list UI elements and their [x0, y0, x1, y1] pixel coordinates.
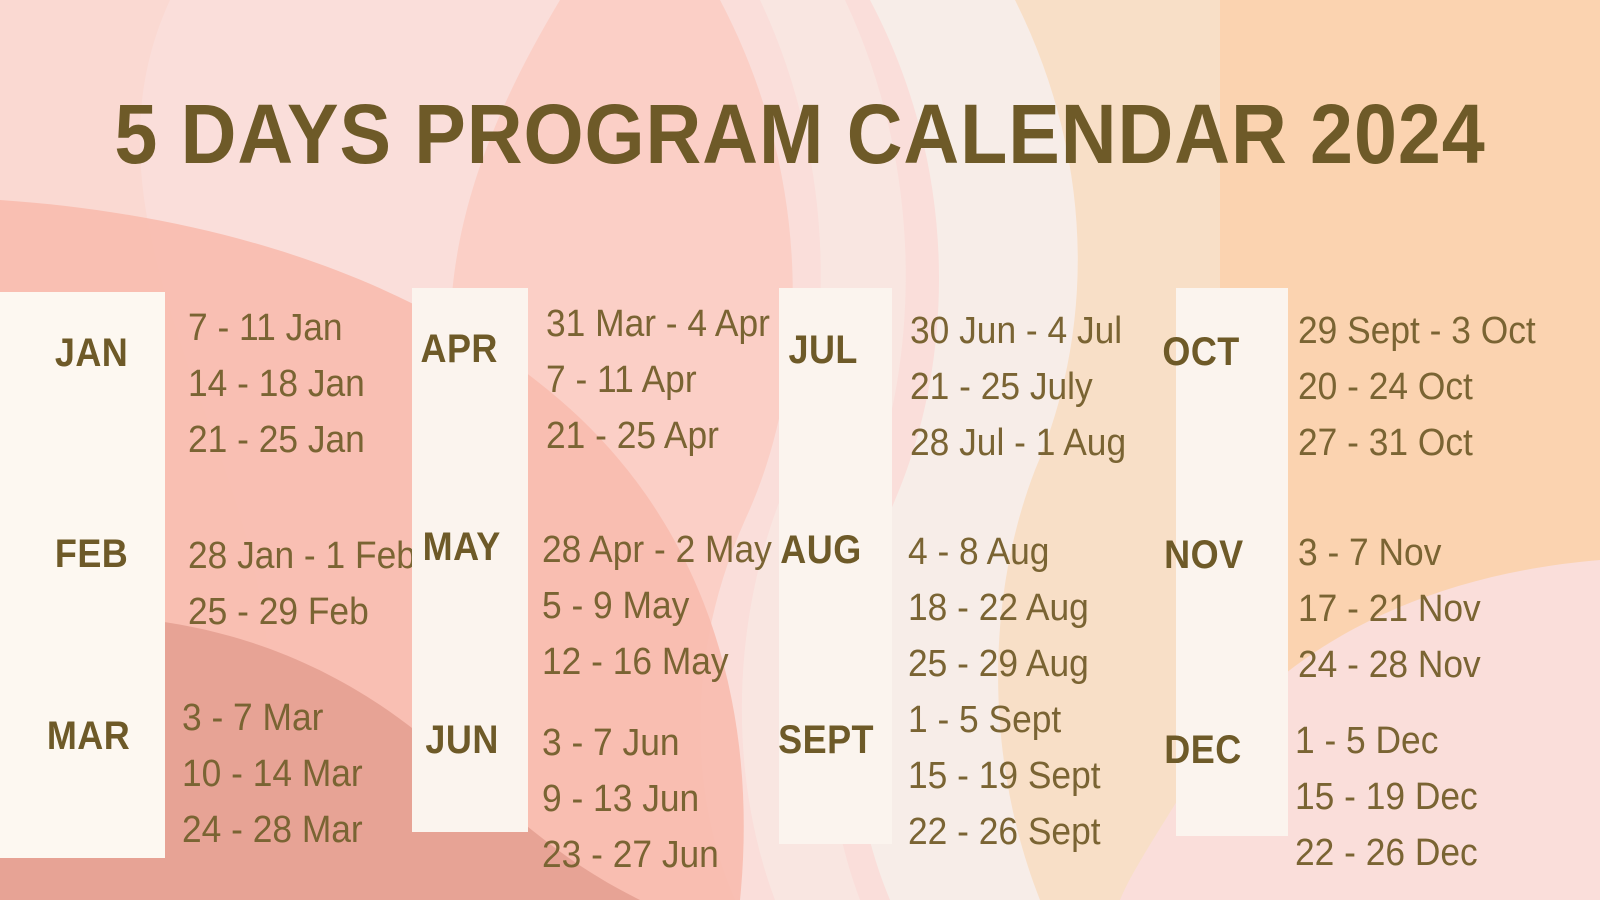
- month-dates-jan: 7 - 11 Jan 14 - 18 Jan 21 - 25 Jan: [188, 300, 365, 468]
- date-range: 1 - 5 Sept: [908, 692, 1101, 748]
- month-dates-apr: 31 Mar - 4 Apr 7 - 11 Apr 21 - 25 Apr: [546, 296, 770, 464]
- month-label-jan: JAN: [7, 333, 129, 373]
- date-range: 28 Jul - 1 Aug: [910, 415, 1126, 471]
- month-dates-aug: 4 - 8 Aug 18 - 22 Aug 25 - 29 Aug: [908, 524, 1089, 692]
- month-dates-may: 28 Apr - 2 May 5 - 9 May 12 - 16 May: [542, 522, 772, 690]
- calendar-poster: 5 DAYS PROGRAM CALENDAR 2024 JAN 7 - 11 …: [0, 0, 1600, 900]
- date-range: 7 - 11 Apr: [546, 352, 770, 408]
- month-dates-nov: 3 - 7 Nov 17 - 21 Nov 24 - 28 Nov: [1298, 525, 1481, 693]
- date-range: 12 - 16 May: [542, 634, 772, 690]
- date-range: 1 - 5 Dec: [1295, 713, 1478, 769]
- month-dates-dec: 1 - 5 Dec 15 - 19 Dec 22 - 26 Dec: [1295, 713, 1478, 881]
- month-dates-mar: 3 - 7 Mar 10 - 14 Mar 24 - 28 Mar: [182, 690, 363, 858]
- date-range: 3 - 7 Nov: [1298, 525, 1481, 581]
- date-range: 10 - 14 Mar: [182, 746, 363, 802]
- date-range: 15 - 19 Sept: [908, 748, 1101, 804]
- date-range: 24 - 28 Nov: [1298, 637, 1481, 693]
- month-column-4: OCT 29 Sept - 3 Oct 20 - 24 Oct 27 - 31 …: [1140, 0, 1600, 900]
- month-label-feb: FEB: [7, 534, 129, 574]
- date-range: 21 - 25 Jan: [188, 412, 365, 468]
- month-label-aug: AUG: [765, 530, 861, 570]
- month-label-may: MAY: [405, 527, 500, 567]
- date-range: 22 - 26 Dec: [1295, 825, 1478, 881]
- date-range: 29 Sept - 3 Oct: [1298, 303, 1536, 359]
- month-dates-feb: 28 Jan - 1 Feb 25 - 29 Feb: [188, 528, 416, 640]
- month-dates-sept: 1 - 5 Sept 15 - 19 Sept 22 - 26 Sept: [908, 692, 1101, 860]
- month-dates-oct: 29 Sept - 3 Oct 20 - 24 Oct 27 - 31 Oct: [1298, 303, 1536, 471]
- date-range: 31 Mar - 4 Apr: [546, 296, 770, 352]
- date-range: 27 - 31 Oct: [1298, 415, 1536, 471]
- date-range: 25 - 29 Aug: [908, 636, 1089, 692]
- date-range: 23 - 27 Jun: [542, 827, 719, 883]
- date-range: 3 - 7 Jun: [542, 715, 719, 771]
- date-range: 28 Jan - 1 Feb: [188, 528, 416, 584]
- month-dates-jul: 30 Jun - 4 Jul 21 - 25 July 28 Jul - 1 A…: [910, 303, 1126, 471]
- month-column-3: JUL 30 Jun - 4 Jul 21 - 25 July 28 Jul -…: [760, 0, 1140, 900]
- date-range: 24 - 28 Mar: [182, 802, 363, 858]
- date-range: 5 - 9 May: [542, 578, 772, 634]
- date-range: 9 - 13 Jun: [542, 771, 719, 827]
- month-label-jul: JUL: [765, 330, 858, 370]
- month-label-dec: DEC: [1145, 730, 1241, 770]
- month-dates-jun: 3 - 7 Jun 9 - 13 Jun 23 - 27 Jun: [542, 715, 719, 883]
- date-range: 15 - 19 Dec: [1295, 769, 1478, 825]
- date-range: 17 - 21 Nov: [1298, 581, 1481, 637]
- month-column-1: JAN 7 - 11 Jan 14 - 18 Jan 21 - 25 Jan F…: [0, 0, 400, 900]
- date-range: 7 - 11 Jan: [188, 300, 365, 356]
- date-range: 18 - 22 Aug: [908, 580, 1089, 636]
- date-range: 28 Apr - 2 May: [542, 522, 772, 578]
- month-label-sept: SEPT: [766, 720, 874, 760]
- date-range: 21 - 25 Apr: [546, 408, 770, 464]
- month-label-nov: NOV: [1145, 535, 1243, 575]
- date-range: 30 Jun - 4 Jul: [910, 303, 1126, 359]
- date-range: 14 - 18 Jan: [188, 356, 365, 412]
- date-range: 20 - 24 Oct: [1298, 359, 1536, 415]
- month-label-mar: MAR: [7, 716, 130, 756]
- date-range: 22 - 26 Sept: [908, 804, 1101, 860]
- month-label-jun: JUN: [405, 720, 499, 760]
- date-range: 21 - 25 July: [910, 359, 1126, 415]
- date-range: 25 - 29 Feb: [188, 584, 416, 640]
- month-label-apr: APR: [405, 329, 498, 369]
- calendar-grid: JAN 7 - 11 Jan 14 - 18 Jan 21 - 25 Jan F…: [0, 0, 1600, 900]
- month-label-oct: OCT: [1145, 332, 1240, 372]
- month-column-2: APR 31 Mar - 4 Apr 7 - 11 Apr 21 - 25 Ap…: [400, 0, 760, 900]
- date-range: 3 - 7 Mar: [182, 690, 363, 746]
- date-range: 4 - 8 Aug: [908, 524, 1089, 580]
